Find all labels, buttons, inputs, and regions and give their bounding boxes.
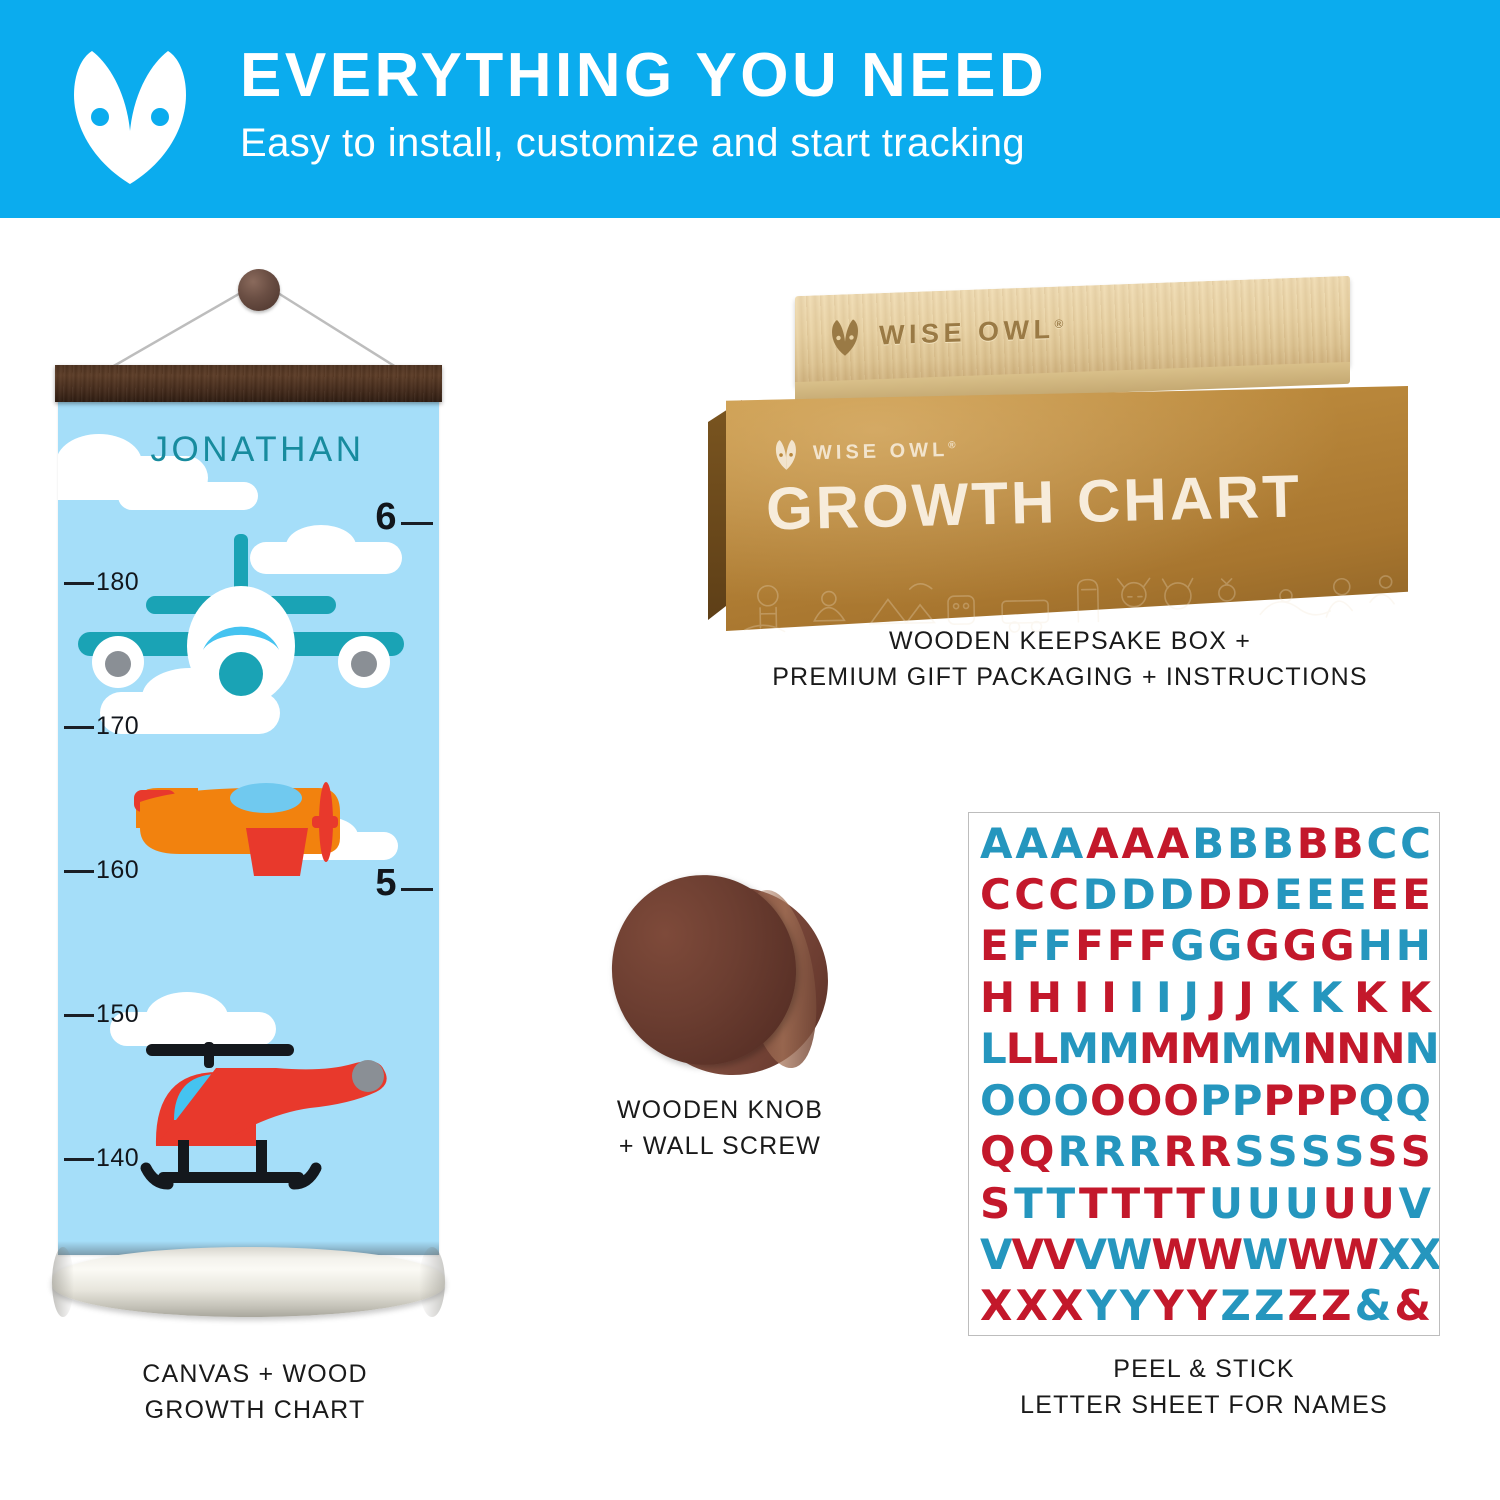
letter-sticker[interactable]: V	[1012, 1234, 1044, 1276]
letter-sticker[interactable]: J	[1238, 977, 1253, 1019]
letter-sticker[interactable]: C	[980, 874, 1010, 916]
letter-sticker[interactable]: I	[1101, 977, 1116, 1019]
letter-sticker[interactable]: B	[1192, 823, 1223, 865]
letter-sticker[interactable]: E	[1274, 874, 1302, 916]
caption-line-2: GROWTH CHART	[40, 1393, 470, 1429]
letter-sticker[interactable]: B	[1227, 823, 1258, 865]
letter-sticker[interactable]: E	[1370, 874, 1398, 916]
letter-sticker[interactable]: Z	[1254, 1285, 1283, 1327]
letter-sticker[interactable]: J	[1211, 977, 1226, 1019]
caption-line-2: + WALL SCREW	[570, 1129, 870, 1165]
ruler-tick-ft	[401, 888, 433, 891]
letter-sticker[interactable]: W	[1242, 1234, 1287, 1276]
letter-sticker[interactable]: C	[1366, 823, 1396, 865]
product-growth-chart: JONATHAN	[40, 255, 470, 1455]
letter-grid: AAAAAABBBBBCCCCCDDDDDEEEEEEFFFFFGGGGGHHH…	[977, 821, 1433, 1329]
product-wooden-knob: WOODEN KNOB + WALL SCREW	[590, 865, 890, 1165]
wooden-knob-image	[612, 873, 822, 1088]
letter-sticker[interactable]: K	[1398, 977, 1430, 1019]
letter-sticker[interactable]: Q	[980, 1131, 1015, 1173]
letter-sticker[interactable]: F	[1043, 925, 1071, 967]
letter-sticker[interactable]: S	[1401, 1131, 1430, 1173]
letter-sticker[interactable]: S	[1234, 1131, 1263, 1173]
letter-sticker[interactable]: Z	[1220, 1285, 1249, 1327]
caption-line-2: PREMIUM GIFT PACKAGING + INSTRUCTIONS	[690, 660, 1450, 696]
caption-line-1: CANVAS + WOOD	[40, 1357, 470, 1393]
letter-sticker[interactable]: B	[1297, 823, 1328, 865]
scale-label-cm: 160	[96, 856, 139, 885]
letter-sticker[interactable]: Y	[1187, 1285, 1216, 1327]
letter-sticker[interactable]: T	[1111, 1183, 1139, 1225]
letter-sticker[interactable]: A	[1121, 823, 1153, 865]
letter-sticker[interactable]: A	[980, 823, 1012, 865]
letter-sticker[interactable]: V	[1398, 1183, 1430, 1225]
letter-sticker[interactable]: O	[980, 1080, 1015, 1122]
caption-keepsake-box: WOODEN KEEPSAKE BOX + PREMIUM GIFT PACKA…	[690, 624, 1450, 695]
letter-sticker[interactable]: W	[1151, 1234, 1196, 1276]
letter-sticker[interactable]: D	[1121, 874, 1155, 916]
letter-row: OOOOOOPPPPPQQ	[977, 1078, 1433, 1123]
owl-logo-icon	[770, 436, 803, 473]
caption-line-1: WOODEN KNOB	[570, 1093, 870, 1129]
letter-row: LLLMMMMMMNNNN	[977, 1027, 1433, 1072]
letter-sticker[interactable]: G	[1208, 925, 1241, 967]
engraved-brand-mark: WISE OWL®	[825, 308, 1068, 359]
header-banner: EVERYTHING YOU NEED Easy to install, cus…	[0, 0, 1500, 218]
letter-sticker[interactable]: P	[1232, 1080, 1262, 1122]
canvas-roll-bottom	[52, 1247, 445, 1317]
letter-sticker[interactable]: Y	[1086, 1285, 1115, 1327]
letter-sticker[interactable]: G	[1283, 925, 1316, 967]
caption-line-2: LETTER SHEET FOR NAMES	[958, 1388, 1450, 1424]
letter-sticker[interactable]: D	[1236, 874, 1270, 916]
letter-sticker[interactable]: Q	[1359, 1080, 1394, 1122]
header-subtitle: Easy to install, customize and start tra…	[240, 118, 1047, 168]
letter-sticker[interactable]: F	[1139, 925, 1167, 967]
letter-sticker[interactable]: O	[1090, 1080, 1125, 1122]
scale-label-ft: 5	[375, 862, 397, 905]
letter-sticker[interactable]: V	[1075, 1234, 1107, 1276]
letter-sticker[interactable]: F	[1107, 925, 1135, 967]
helicopter-icon	[116, 1028, 406, 1196]
letter-sticker[interactable]: Q	[1395, 1080, 1430, 1122]
letter-row: CCCDDDDDEEEEE	[977, 872, 1433, 917]
scale-label-ft: 6	[375, 496, 397, 539]
letter-sticker[interactable]: M	[1057, 1028, 1098, 1070]
letter-sticker[interactable]: T	[1014, 1183, 1042, 1225]
letter-sticker[interactable]: P	[1295, 1080, 1325, 1122]
letter-sticker[interactable]: Z	[1288, 1285, 1317, 1327]
letter-sticker[interactable]: X	[1378, 1234, 1409, 1276]
letter-sticker[interactable]: T	[1176, 1183, 1204, 1225]
letter-sticker[interactable]: P	[1263, 1080, 1293, 1122]
kraft-brand-text: WISE OWL®	[813, 438, 960, 465]
letter-row: EFFFFFGGGGGHH	[977, 924, 1433, 969]
letter-sticker[interactable]: Z	[1321, 1285, 1350, 1327]
letter-sticker[interactable]: Q	[1019, 1131, 1054, 1173]
letter-sticker[interactable]: R	[1199, 1131, 1230, 1173]
product-letter-sheet: AAAAAABBBBBCCCCCDDDDDEEEEEEFFFFFGGGGGHHH…	[968, 812, 1446, 1342]
letter-sticker[interactable]: V	[1043, 1234, 1075, 1276]
letter-sticker[interactable]: D	[1197, 874, 1231, 916]
letter-sticker[interactable]: A	[1086, 823, 1118, 865]
letter-sticker[interactable]: P	[1327, 1080, 1357, 1122]
wooden-hanger-bar	[55, 365, 442, 402]
letter-sticker[interactable]: T	[1079, 1183, 1107, 1225]
letter-row: QQRRRRRSSSSSS	[977, 1130, 1433, 1175]
letter-sticker[interactable]: R	[1093, 1131, 1124, 1173]
letter-sticker[interactable]: I	[1129, 977, 1144, 1019]
letter-sticker[interactable]: B	[1262, 823, 1293, 865]
letter-row: VVVVWWWWWWXXX	[977, 1233, 1433, 1278]
letter-sticker[interactable]: N	[1302, 1028, 1336, 1070]
ruler-tick-cm	[64, 1158, 94, 1161]
ruler-tick-cm	[64, 582, 94, 585]
letter-sticker[interactable]: S	[1367, 1131, 1396, 1173]
letter-sticker[interactable]: N	[1336, 1028, 1370, 1070]
letter-sticker[interactable]: X	[1051, 1285, 1082, 1327]
letter-sticker[interactable]: C	[1048, 874, 1078, 916]
kraft-box-title: GROWTH CHART	[765, 461, 1302, 543]
letter-sticker[interactable]: M	[1220, 1028, 1261, 1070]
letter-sticker[interactable]: G	[1170, 925, 1203, 967]
scale-label-cm: 150	[96, 1000, 139, 1029]
letter-sticker[interactable]: W	[1287, 1234, 1332, 1276]
scale-label-cm: 170	[96, 712, 139, 741]
letter-sticker[interactable]: X	[1409, 1234, 1440, 1276]
letter-row: AAAAAABBBBBCC	[977, 821, 1433, 866]
letter-sticker[interactable]: S	[1334, 1131, 1363, 1173]
letter-sticker[interactable]: K	[1266, 977, 1298, 1019]
letter-sticker[interactable]: O	[1053, 1080, 1088, 1122]
letter-sticker[interactable]: O	[1017, 1080, 1052, 1122]
letter-sticker[interactable]: &	[1394, 1285, 1430, 1327]
letter-sticker[interactable]: H	[1358, 925, 1392, 967]
letter-sticker[interactable]: O	[1163, 1080, 1198, 1122]
letter-sticker[interactable]: M	[1180, 1028, 1221, 1070]
letter-sticker[interactable]: A	[1015, 823, 1047, 865]
caption-line-1: PEEL & STICK	[958, 1352, 1450, 1388]
letter-sticker[interactable]: D	[1083, 874, 1117, 916]
letter-sticker[interactable]: A	[1157, 823, 1189, 865]
letter-sticker[interactable]: L	[1032, 1028, 1058, 1070]
letter-sticker[interactable]: R	[1057, 1131, 1088, 1173]
letter-row: HHIIIIJJJKKKK	[977, 975, 1433, 1020]
letter-sticker[interactable]: F	[1075, 925, 1103, 967]
letter-sticker[interactable]: H	[1027, 977, 1061, 1019]
ruler-tick-ft	[401, 522, 433, 525]
letter-sticker[interactable]: C	[1014, 874, 1044, 916]
letter-sticker[interactable]: Y	[1120, 1285, 1149, 1327]
letter-row: XXXYYYYZZZZ&&	[977, 1284, 1433, 1329]
engraved-brand-text: WISE OWL®	[879, 313, 1068, 351]
letter-sticker[interactable]: W	[1106, 1234, 1151, 1276]
letter-sticker[interactable]: G	[1320, 925, 1353, 967]
ruler-tick-cm	[64, 1014, 94, 1017]
letter-sticker[interactable]: U	[1209, 1183, 1242, 1225]
letter-sticker[interactable]: U	[1285, 1183, 1318, 1225]
owl-logo-icon	[30, 29, 230, 189]
letter-sticker[interactable]: L	[980, 1028, 1006, 1070]
letter-sticker[interactable]: N	[1370, 1028, 1404, 1070]
letter-row: STTTTTTUUUUUV	[977, 1181, 1433, 1226]
letter-sticker[interactable]: S	[980, 1183, 1009, 1225]
caption-letter-sheet: PEEL & STICK LETTER SHEET FOR NAMES	[958, 1352, 1450, 1423]
letter-sticker[interactable]: S	[1268, 1131, 1297, 1173]
cloud-icon	[118, 482, 258, 510]
scale-label-cm: 140	[96, 1144, 139, 1173]
product-keepsake-box: WISE OWL® WISE OWL® GROWTH CHART	[700, 268, 1440, 718]
wall-knob-icon	[238, 269, 280, 311]
ruler-tick-cm	[64, 870, 94, 873]
caption-line-1: WOODEN KEEPSAKE BOX +	[690, 624, 1450, 660]
letter-sticker[interactable]: U	[1361, 1183, 1394, 1225]
letter-sticker[interactable]: C	[1400, 823, 1430, 865]
letter-sticker[interactable]: T	[1144, 1183, 1172, 1225]
scale-label-cm: 180	[96, 568, 139, 597]
propeller-plane-icon	[130, 754, 380, 886]
letter-sticker[interactable]: D	[1159, 874, 1193, 916]
letter-sticker[interactable]: P	[1200, 1080, 1230, 1122]
letter-sticker[interactable]: U	[1247, 1183, 1280, 1225]
header-text-block: EVERYTHING YOU NEED Easy to install, cus…	[240, 44, 1047, 173]
letter-sticker[interactable]: H	[980, 977, 1014, 1019]
letter-sticker[interactable]: L	[1006, 1028, 1032, 1070]
letter-sticker[interactable]: F	[1012, 925, 1040, 967]
jet-airplane-icon	[76, 534, 406, 724]
letter-sticker[interactable]: O	[1127, 1080, 1162, 1122]
letter-sticker[interactable]: I	[1156, 977, 1171, 1019]
letter-sticker[interactable]: E	[980, 925, 1008, 967]
letter-sticker[interactable]: K	[1310, 977, 1342, 1019]
letter-sticker[interactable]: X	[980, 1285, 1011, 1327]
letter-sticker[interactable]: X	[1015, 1285, 1046, 1327]
kraft-brand-mark: WISE OWL®	[770, 432, 961, 473]
caption-growth-chart: CANVAS + WOOD GROWTH CHART	[40, 1357, 470, 1428]
letter-sticker[interactable]: K	[1354, 977, 1386, 1019]
letter-sticker[interactable]: T	[1047, 1183, 1075, 1225]
letter-sticker[interactable]: N	[1405, 1028, 1439, 1070]
letter-sticker[interactable]: R	[1128, 1131, 1159, 1173]
letter-sticker[interactable]: B	[1332, 823, 1363, 865]
letter-sticker[interactable]: M	[1261, 1028, 1302, 1070]
letter-sticker[interactable]: H	[1396, 925, 1430, 967]
letter-sticker[interactable]: E	[1402, 874, 1430, 916]
letter-sticker[interactable]: Y	[1153, 1285, 1182, 1327]
letter-sticker[interactable]: E	[1338, 874, 1366, 916]
letter-sticker[interactable]: S	[1301, 1131, 1330, 1173]
letter-sticker[interactable]: R	[1164, 1131, 1195, 1173]
letter-sticker[interactable]: &	[1355, 1285, 1391, 1327]
caption-wooden-knob: WOODEN KNOB + WALL SCREW	[570, 1093, 870, 1164]
ruler-tick-cm	[64, 726, 94, 729]
letter-sticker[interactable]: J	[1183, 977, 1198, 1019]
letter-sticker[interactable]: W	[1333, 1234, 1378, 1276]
letter-sticker[interactable]: U	[1323, 1183, 1356, 1225]
letter-sticker[interactable]: A	[1051, 823, 1083, 865]
letter-sticker[interactable]: M	[1139, 1028, 1180, 1070]
letter-sticker[interactable]: M	[1098, 1028, 1139, 1070]
header-title: EVERYTHING YOU NEED	[240, 44, 1047, 107]
letter-sticker-sheet: AAAAAABBBBBCCCCCDDDDDEEEEEEFFFFFGGGGGHHH…	[968, 812, 1440, 1336]
personalized-name: JONATHAN	[58, 430, 439, 470]
owl-logo-icon	[825, 315, 865, 358]
letter-sticker[interactable]: E	[1306, 874, 1334, 916]
letter-sticker[interactable]: V	[980, 1234, 1012, 1276]
canvas-chart-sheet: JONATHAN	[58, 400, 439, 1255]
letter-sticker[interactable]: I	[1074, 977, 1089, 1019]
letter-sticker[interactable]: G	[1245, 925, 1278, 967]
letter-sticker[interactable]: W	[1197, 1234, 1242, 1276]
